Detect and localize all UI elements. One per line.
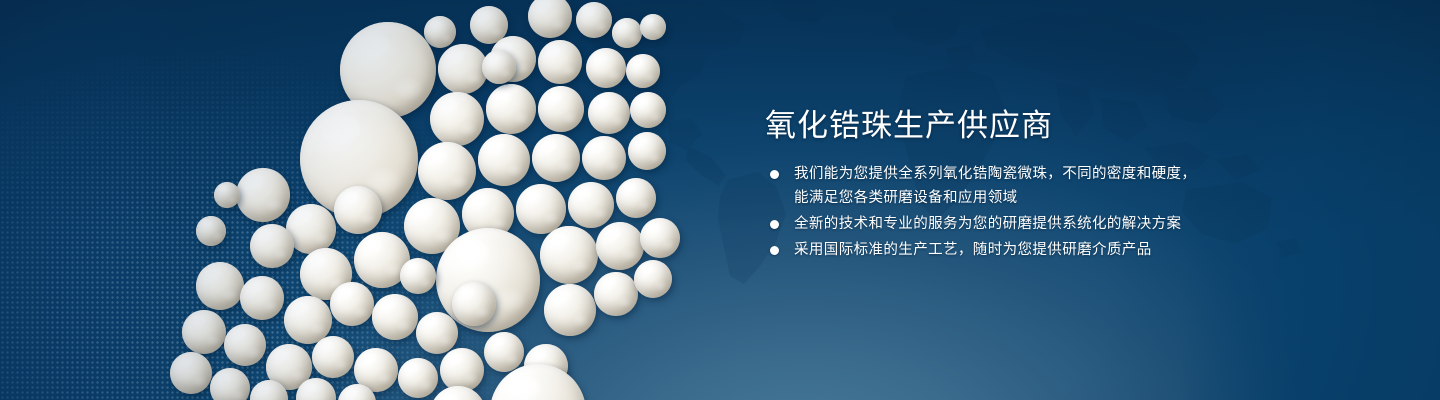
feature-text: 全新的技术和专业的服务为您的研磨提供系统化的解决方案 — [794, 212, 1181, 236]
list-item: 我们能为您提供全系列氧化锆陶瓷微珠，不同的密度和硬度， 能满足您各类研磨设备和应… — [765, 162, 1325, 210]
feature-text: 采用国际标准的生产工艺，随时为您提供研磨介质产品 — [794, 238, 1152, 262]
bullet-dot-icon — [770, 220, 779, 229]
feature-text-line1: 我们能为您提供全系列氧化锆陶瓷微珠，不同的密度和硬度， — [794, 166, 1196, 182]
feature-text-line1: 全新的技术和专业的服务为您的研磨提供系统化的解决方案 — [794, 216, 1181, 232]
hero-banner: 氧化锆珠生产供应商 我们能为您提供全系列氧化锆陶瓷微珠，不同的密度和硬度， 能满… — [0, 0, 1440, 400]
bullet-dot-icon — [770, 246, 779, 255]
feature-text-line1: 采用国际标准的生产工艺，随时为您提供研磨介质产品 — [794, 242, 1152, 258]
list-item: 采用国际标准的生产工艺，随时为您提供研磨介质产品 — [765, 238, 1325, 262]
feature-list: 我们能为您提供全系列氧化锆陶瓷微珠，不同的密度和硬度， 能满足您各类研磨设备和应… — [765, 162, 1325, 262]
list-item: 全新的技术和专业的服务为您的研磨提供系统化的解决方案 — [765, 212, 1325, 236]
feature-text: 我们能为您提供全系列氧化锆陶瓷微珠，不同的密度和硬度， 能满足您各类研磨设备和应… — [794, 162, 1196, 210]
banner-text-block: 氧化锆珠生产供应商 我们能为您提供全系列氧化锆陶瓷微珠，不同的密度和硬度， 能满… — [765, 104, 1325, 264]
feature-text-line2: 能满足您各类研磨设备和应用领域 — [794, 186, 1196, 210]
banner-headline: 氧化锆珠生产供应商 — [765, 104, 1325, 148]
bullet-dot-icon — [770, 170, 779, 179]
